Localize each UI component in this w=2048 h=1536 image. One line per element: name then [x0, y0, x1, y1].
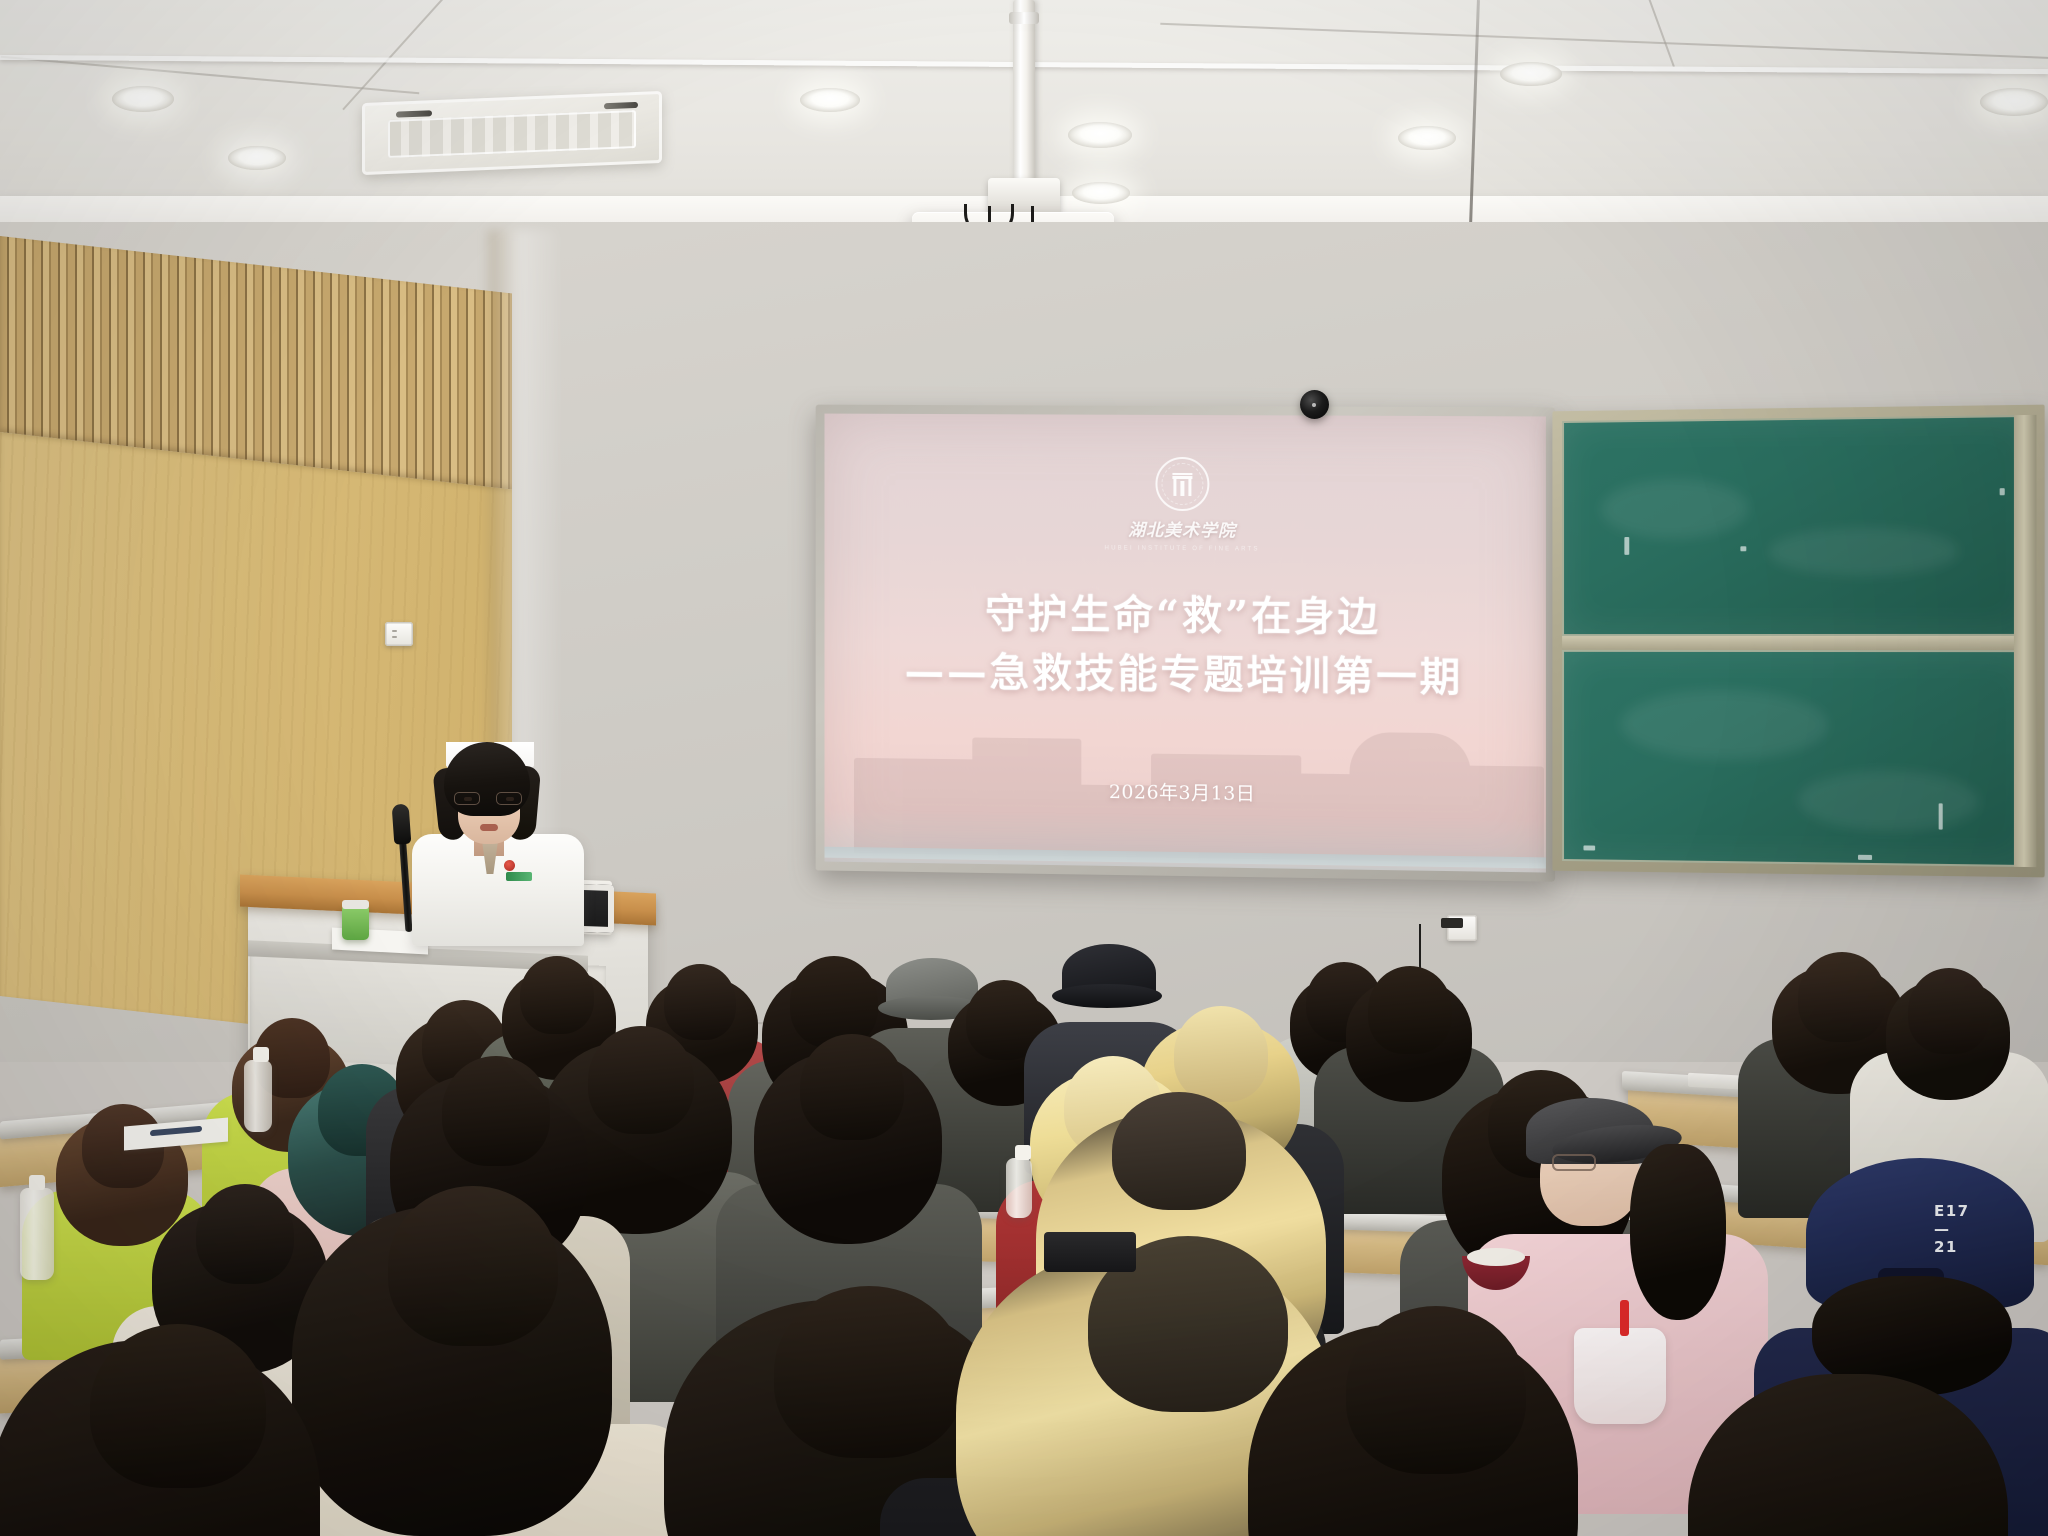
blackboard-slide-rail	[2014, 415, 2037, 867]
projector-mount-pole	[1013, 0, 1035, 184]
drink-in-plastic-bag	[1574, 1328, 1666, 1424]
slide-surface: 湖北美术学院 HUBEI INSTITUTE OF FINE ARTS 守护生命…	[824, 414, 1545, 873]
institution-logo: 湖北美术学院 HUBEI INSTITUTE OF FINE ARTS	[1105, 457, 1260, 553]
speaker-presenter	[402, 742, 592, 922]
ceiling-downlight	[800, 88, 860, 112]
air-conditioner-vent	[362, 91, 662, 175]
ac-grille	[388, 110, 636, 158]
ceiling-downlight	[228, 146, 286, 170]
slide-title-line-2: ——急救技能专题培训第一期	[824, 647, 1545, 705]
ceiling-downlight	[1980, 88, 2048, 116]
lecture-hall-photo: 12 : 2	[0, 0, 2048, 1536]
blackboard	[1552, 405, 2044, 878]
eyeglasses-icon	[1552, 1154, 1596, 1171]
institution-name-english: HUBEI INSTITUTE OF FINE ARTS	[1105, 545, 1260, 552]
cap-text: E17—21	[1934, 1202, 1970, 1256]
gate-glyph-icon	[1172, 472, 1192, 495]
laptop-or-tablet	[1044, 1232, 1136, 1272]
blackboard-panel-bottom	[1562, 650, 2034, 867]
eyeglasses-icon	[454, 792, 526, 805]
wall-camera-icon	[1300, 390, 1329, 419]
projection-screen: 湖北美术学院 HUBEI INSTITUTE OF FINE ARTS 守护生命…	[816, 405, 1555, 882]
ceiling-downlight	[1072, 182, 1130, 204]
light-switch[interactable]	[385, 622, 413, 646]
slide-title-block: 守护生命“救”在身边 ——急救技能专题培训第一期	[824, 588, 1545, 705]
ceiling-downlight	[112, 86, 174, 112]
lapel-pin-icon	[504, 860, 515, 871]
wall-power-socket[interactable]	[1447, 915, 1477, 941]
institution-name: 湖北美术学院	[1128, 516, 1236, 542]
ceiling-downlight	[1068, 122, 1132, 148]
blackboard-panel-top	[1562, 415, 2034, 636]
water-bottle	[1006, 1158, 1032, 1218]
ceiling-downlight	[1398, 126, 1456, 150]
water-bottle	[244, 1060, 272, 1132]
water-bottle	[20, 1188, 54, 1280]
logo-emblem-icon	[1155, 457, 1209, 511]
slide-title-line-1: 守护生命“救”在身边	[824, 588, 1545, 645]
ceiling-downlight	[1500, 62, 1562, 86]
plug-adapter	[1441, 918, 1463, 928]
name-badge	[506, 872, 532, 881]
drink-cup	[342, 906, 369, 940]
drinking-straw	[1620, 1300, 1629, 1336]
